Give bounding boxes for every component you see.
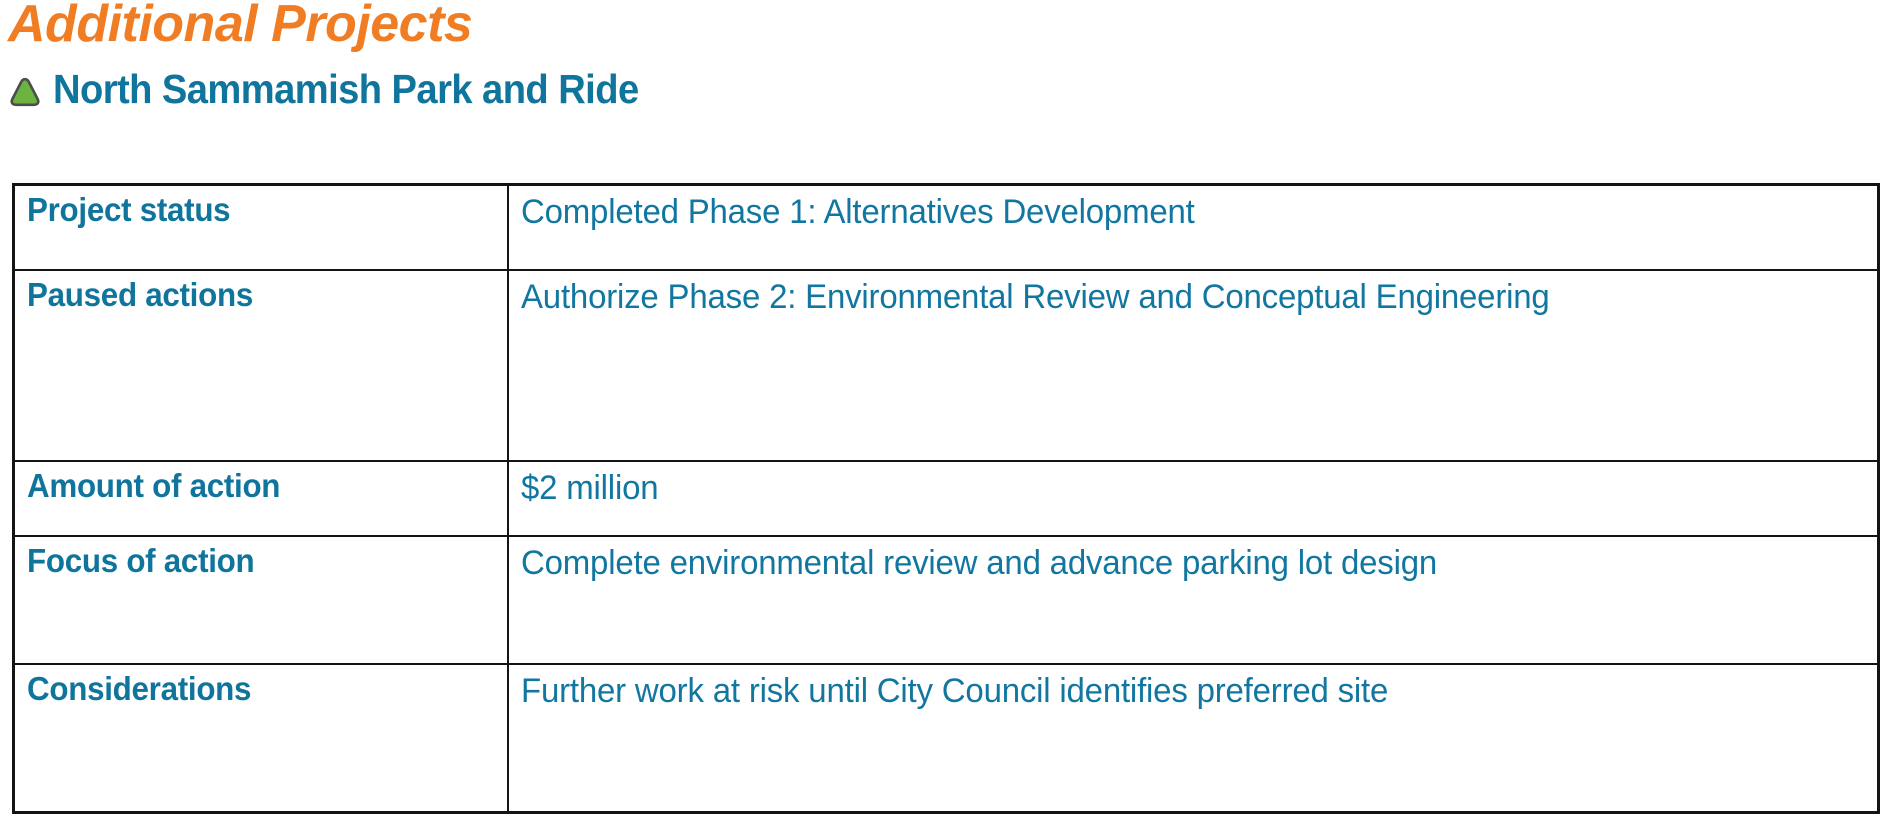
table-row: Considerations Further work at risk unti… [14, 664, 1879, 813]
table-cell-label: Amount of action [14, 461, 508, 536]
row-value: $2 million [521, 466, 1827, 510]
table-cell-label: Paused actions [14, 270, 508, 461]
row-label: Project status [27, 190, 473, 230]
row-value: Further work at risk until City Council … [521, 669, 1827, 713]
table-cell-value: Further work at risk until City Council … [508, 664, 1879, 813]
table-cell-value: Complete environmental review and advanc… [508, 536, 1879, 664]
table-row: Amount of action $2 million [14, 461, 1879, 536]
table-cell-value: $2 million [508, 461, 1879, 536]
row-label: Considerations [27, 669, 473, 709]
green-triangle-icon [8, 71, 42, 109]
row-value: Completed Phase 1: Alternatives Developm… [521, 190, 1827, 234]
page-title: Additional Projects [8, 0, 472, 53]
slide-canvas: Additional Projects North Sammamish Park… [0, 0, 1898, 824]
table-cell-label: Project status [14, 185, 508, 271]
row-label: Paused actions [27, 275, 473, 315]
project-subheading-row: North Sammamish Park and Ride [8, 66, 683, 113]
project-details-table: Project status Completed Phase 1: Altern… [12, 183, 1880, 814]
table-cell-value: Authorize Phase 2: Environmental Review … [508, 270, 1879, 461]
table-row: Focus of action Complete environmental r… [14, 536, 1879, 664]
row-label: Amount of action [27, 466, 473, 506]
table-cell-value: Completed Phase 1: Alternatives Developm… [508, 185, 1879, 271]
row-label: Focus of action [27, 541, 473, 581]
table-row: Project status Completed Phase 1: Altern… [14, 185, 1879, 271]
table-row: Paused actions Authorize Phase 2: Enviro… [14, 270, 1879, 461]
table-cell-label: Focus of action [14, 536, 508, 664]
row-value: Authorize Phase 2: Environmental Review … [521, 275, 1827, 319]
table-cell-label: Considerations [14, 664, 508, 813]
project-name-heading: North Sammamish Park and Ride [53, 66, 639, 113]
row-value: Complete environmental review and advanc… [521, 541, 1827, 585]
